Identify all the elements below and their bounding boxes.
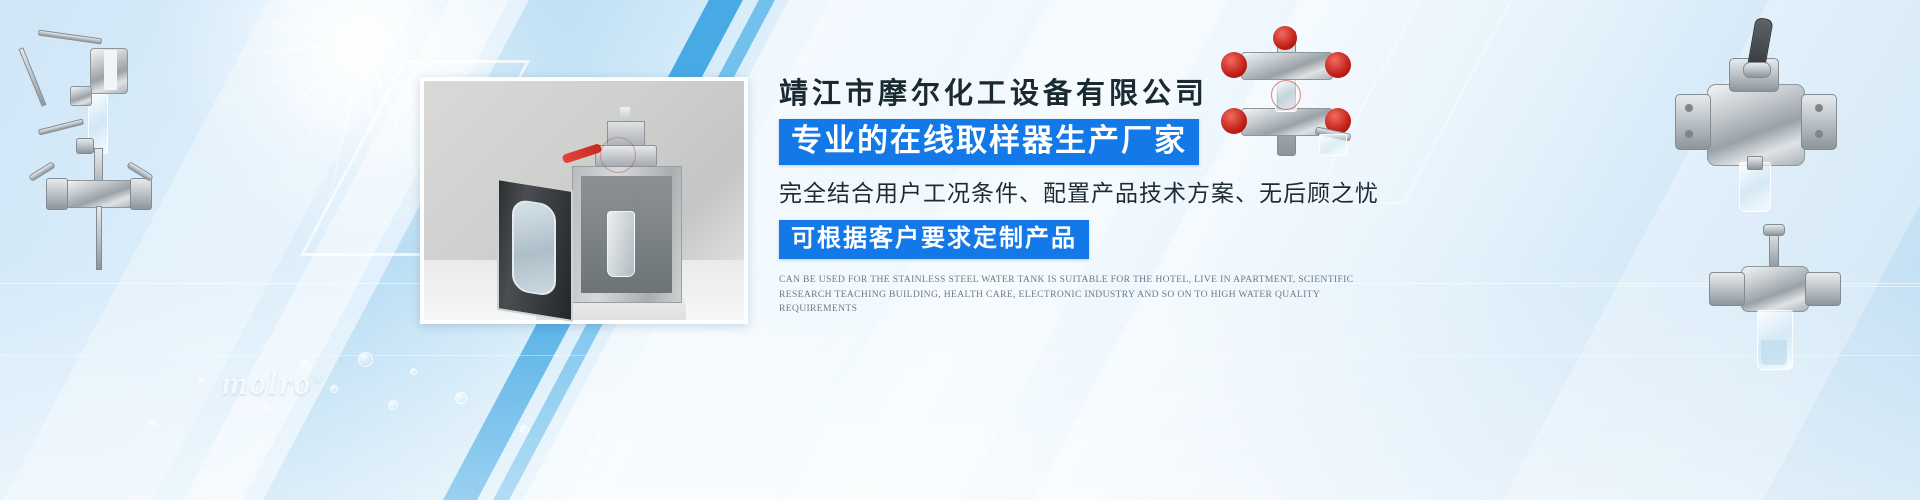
valve-flange-bolt-icon (1815, 104, 1823, 112)
valve-main-body (1707, 84, 1805, 166)
illustration-cross-valve-manifold (1215, 30, 1375, 160)
sampler-valve-body-upper (70, 86, 92, 106)
water-droplet-icon (262, 404, 271, 413)
inline-valve-left-flange (1709, 272, 1745, 306)
valve-handwheel-icon (1221, 52, 1247, 78)
water-droplet-icon (198, 378, 205, 385)
water-droplet-icon (410, 368, 417, 375)
brand-watermark-text: molro (222, 366, 313, 402)
english-description: CAN BE USED FOR THE STAINLESS STEEL WATE… (779, 273, 1379, 317)
tagline-secondary: 完全结合用户工况条件、配置产品技术方案、无后顾之忧 (779, 179, 1399, 207)
valve-flange-bolt-icon (1685, 104, 1693, 112)
photo-seal-watermark (600, 137, 636, 173)
valve-flange-bolt-icon (1685, 130, 1693, 138)
valve-handwheel-icon (1221, 108, 1247, 134)
sampler-probe-rod (96, 206, 102, 270)
valve-right-flange (1801, 94, 1837, 150)
valve-handwheel-icon (1325, 52, 1351, 78)
inline-valve-bottle-fill (1761, 340, 1787, 365)
sampler-valve-lower (76, 138, 94, 154)
sampler-manifold-block (64, 180, 134, 208)
valve-left-flange (1675, 94, 1711, 150)
registered-mark-icon: ® (313, 371, 325, 386)
sampler-branch-pipe (38, 119, 84, 136)
sampler-arm-pipe (19, 47, 47, 106)
inline-valve-body (1741, 266, 1809, 312)
sampler-right-flange (130, 178, 152, 210)
illustration-flanged-sampling-valve (1655, 22, 1845, 222)
valve-handwheel-icon (1273, 26, 1297, 50)
manifold-upper-cross-body (1241, 52, 1333, 80)
illustration-wall-mounted-sampler (8, 28, 168, 278)
tagline-custom: 可根据客户要求定制产品 (779, 220, 1089, 259)
brand-watermark: molro® (222, 366, 325, 403)
water-droplet-icon (455, 392, 467, 404)
photo-door-window (512, 198, 556, 297)
inline-valve-right-flange (1805, 272, 1841, 306)
sampler-left-flange (46, 178, 68, 210)
photo-cabinet-door (497, 178, 573, 322)
valve-flange-bolt-icon (1815, 130, 1823, 138)
valve-handle-pivot (1743, 62, 1771, 78)
water-droplet-icon (150, 420, 158, 428)
water-droplet-icon (520, 425, 529, 434)
inline-valve-stem-cap (1763, 224, 1785, 236)
sampler-canister-label (104, 50, 117, 90)
valve-outlet-nozzle (1747, 156, 1763, 170)
photo-cabinet-body (572, 166, 682, 303)
water-droplet-icon (330, 385, 338, 393)
illustration-inline-sampling-valve (1705, 228, 1875, 388)
manifold-seal-badge (1271, 80, 1301, 110)
background-horizon-line (0, 355, 1920, 356)
photo-sample-bottle (607, 211, 635, 277)
tagline-primary: 专业的在线取样器生产厂家 (779, 119, 1199, 165)
sampler-top-bracket (38, 30, 102, 45)
manifold-collection-cup (1319, 134, 1347, 156)
promo-banner: 靖江市摩尔化工设备有限公司 专业的在线取样器生产厂家 完全结合用户工况条件、配置… (0, 0, 1920, 500)
water-droplet-icon (388, 400, 398, 410)
online-sampler-cabinet-photo (420, 77, 748, 324)
water-droplet-icon (358, 352, 373, 367)
tagline-custom-wrapper: 可根据客户要求定制产品 (779, 207, 1399, 259)
